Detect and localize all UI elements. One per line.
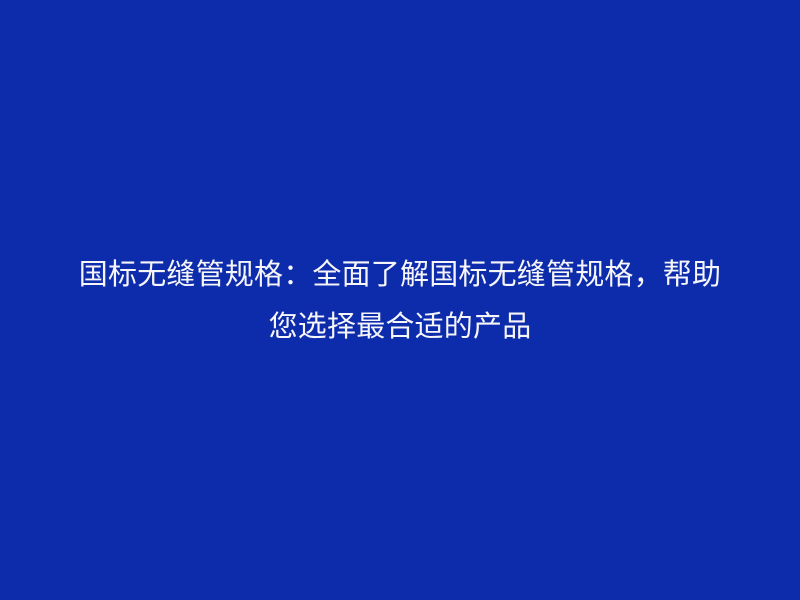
page-title: 国标无缝管规格：全面了解国标无缝管规格，帮助 您选择最合适的产品 xyxy=(50,248,750,352)
title-line-2: 您选择最合适的产品 xyxy=(50,300,750,352)
title-line-1: 国标无缝管规格：全面了解国标无缝管规格，帮助 xyxy=(50,248,750,300)
title-banner-canvas: 国标无缝管规格：全面了解国标无缝管规格，帮助 您选择最合适的产品 xyxy=(0,0,800,600)
